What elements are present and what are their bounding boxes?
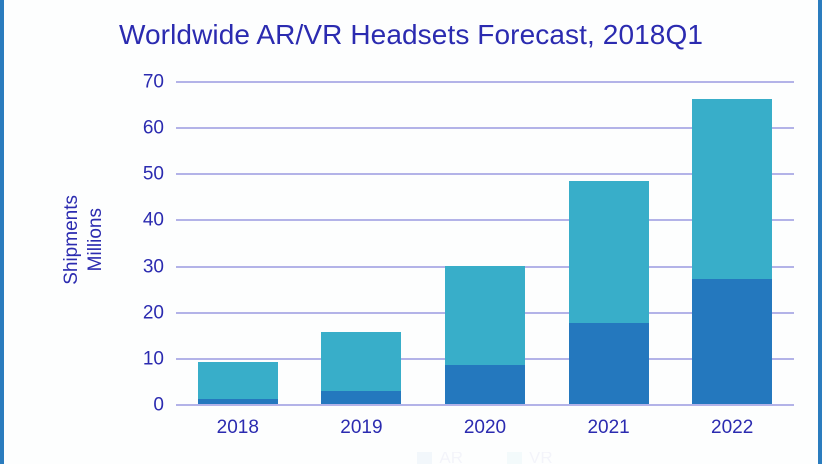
legend-label-vr: VR	[529, 452, 553, 464]
legend-item-ar[interactable]: AR	[417, 452, 463, 464]
legend-item-vr[interactable]: VR	[507, 452, 553, 464]
x-axis-labels: 20182019202020212022	[176, 416, 794, 440]
bar-group-2018[interactable]	[198, 81, 278, 404]
chart-title: Worldwide AR/VR Headsets Forecast, 2018Q…	[4, 18, 818, 52]
y-axis-tick-70: 70	[143, 73, 164, 92]
bar-series-container	[176, 81, 794, 404]
slide-canvas: Worldwide AR/VR Headsets Forecast, 2018Q…	[0, 0, 826, 464]
bar-segment-ar-2018[interactable]	[198, 399, 278, 404]
chart-legend: ARVR	[176, 452, 794, 464]
y-axis-tick-50: 50	[143, 165, 164, 184]
y-axis-title-line-millions: Millions	[85, 208, 107, 271]
y-axis-tick-40: 40	[143, 211, 164, 230]
bar-segment-vr-2019[interactable]	[321, 332, 401, 392]
y-axis-tick-0: 0	[153, 396, 164, 415]
chart-area: Worldwide AR/VR Headsets Forecast, 2018Q…	[4, 0, 818, 464]
bar-segment-vr-2020[interactable]	[445, 266, 525, 365]
legend-swatch-ar	[417, 452, 432, 464]
bar-segment-vr-2022[interactable]	[692, 99, 772, 279]
legend-label-ar: AR	[439, 452, 463, 464]
y-axis-tick-10: 10	[143, 349, 164, 368]
bar-segment-ar-2022[interactable]	[692, 279, 772, 404]
slide-right-border	[818, 0, 822, 464]
y-axis-tick-60: 60	[143, 119, 164, 138]
bar-segment-ar-2019[interactable]	[321, 391, 401, 404]
x-axis-tick-2020: 2020	[445, 416, 525, 440]
bar-segment-ar-2021[interactable]	[569, 323, 649, 404]
gridline-0: 0	[176, 404, 794, 406]
legend-swatch-vr	[507, 452, 522, 464]
y-axis-title-line-shipments: Shipments	[61, 195, 83, 285]
bar-segment-ar-2020[interactable]	[445, 365, 525, 404]
x-axis-tick-2021: 2021	[569, 416, 649, 440]
x-axis-tick-2022: 2022	[692, 416, 772, 440]
bar-group-2021[interactable]	[569, 81, 649, 404]
bar-segment-vr-2021[interactable]	[569, 181, 649, 323]
bar-group-2020[interactable]	[445, 81, 525, 404]
bar-group-2022[interactable]	[692, 81, 772, 404]
y-axis-tick-30: 30	[143, 257, 164, 276]
bar-group-2019[interactable]	[321, 81, 401, 404]
bar-segment-vr-2018[interactable]	[198, 362, 278, 399]
plot-region: 010203040506070	[176, 81, 794, 404]
y-axis-tick-20: 20	[143, 303, 164, 322]
y-axis-title: Shipments Millions	[48, 150, 120, 330]
x-axis-tick-2018: 2018	[198, 416, 278, 440]
x-axis-tick-2019: 2019	[321, 416, 401, 440]
